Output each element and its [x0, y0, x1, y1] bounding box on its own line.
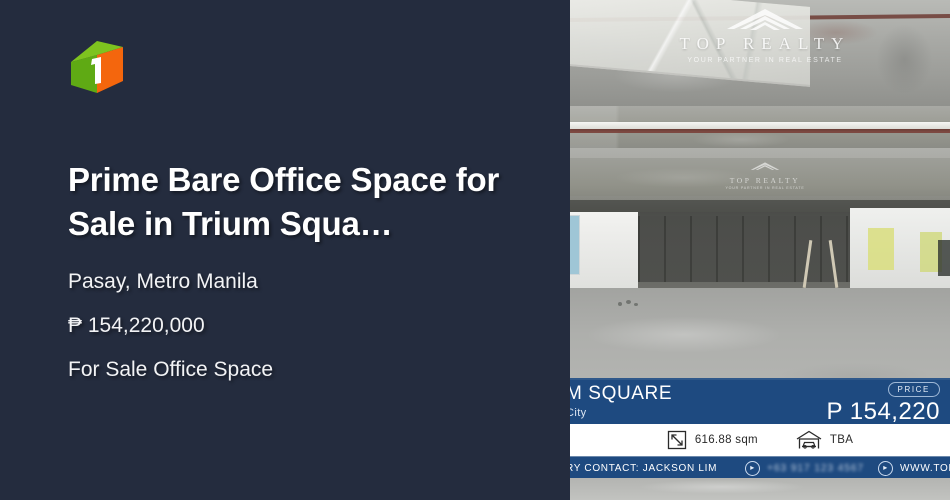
property-listing-card: Prime Bare Office Space for Sale in Triu…	[0, 0, 950, 500]
floor-debris	[634, 303, 638, 306]
banner-header: M SQUARE City PRICE P 154,220	[570, 378, 950, 424]
banner-price-value: P 154,220	[827, 400, 941, 424]
chevron-right-icon: ▸	[878, 461, 893, 476]
floor-debris	[618, 302, 622, 306]
listing-price: ₱ 154,220,000	[68, 315, 520, 336]
bottom-floor-strip	[570, 478, 950, 500]
right-dark-doorway	[938, 240, 950, 276]
floor-area-icon	[667, 430, 687, 450]
banner-header-right: PRICE P 154,220	[827, 379, 943, 424]
property-info-banner: M SQUARE City PRICE P 154,220	[570, 378, 950, 478]
yellow-glass-panel-1	[868, 228, 894, 270]
contact-website-item[interactable]: ▸ WWW.TOPREAL	[878, 461, 950, 476]
banner-header-left: M SQUARE City	[570, 384, 672, 419]
garage-icon	[796, 430, 822, 450]
contact-phone-number: +63 917 123 4567	[767, 463, 864, 474]
listing-location: Pasay, Metro Manila	[68, 271, 520, 292]
step-ladder	[802, 240, 842, 288]
contact-agent-label: RY CONTACT: JACKSON LIM	[570, 463, 717, 474]
banner-contact-row: RY CONTACT: JACKSON LIM ▸ +63 917 123 45…	[570, 456, 950, 479]
banner-property-name: M SQUARE	[570, 384, 672, 403]
metal-stud-partition	[634, 216, 884, 282]
banner-specs-row: 616.88 sqm TBA	[570, 424, 950, 456]
ceiling-beam-lower	[570, 148, 950, 202]
page-title: Prime Bare Office Space for Sale in Triu…	[68, 158, 520, 245]
listing-info-panel: Prime Bare Office Space for Sale in Triu…	[0, 0, 570, 500]
spec-floor-area-value: 616.88 sqm	[695, 434, 758, 446]
floor-debris	[626, 300, 631, 304]
house-one-logo[interactable]	[68, 38, 126, 100]
price-chip-label: PRICE	[888, 382, 940, 397]
banner-property-city: City	[570, 407, 672, 419]
white-pipe-middle	[570, 122, 950, 129]
left-white-wall	[570, 212, 638, 296]
left-window	[570, 215, 580, 275]
spec-garage: TBA	[796, 430, 853, 450]
listing-photo-panel[interactable]: TOP REALTY YOUR PARTNER IN REAL ESTATE T…	[570, 0, 950, 500]
contact-website-url: WWW.TOPREAL	[900, 463, 950, 474]
contact-phone-item[interactable]: ▸ +63 917 123 4567	[745, 461, 864, 476]
chevron-right-icon: ▸	[745, 461, 760, 476]
spec-floor-area: 616.88 sqm	[667, 430, 758, 450]
listing-category: For Sale Office Space	[68, 359, 520, 380]
bare-office-interior-photo: TOP REALTY YOUR PARTNER IN REAL ESTATE T…	[570, 0, 950, 500]
spec-garage-value: TBA	[830, 434, 853, 446]
